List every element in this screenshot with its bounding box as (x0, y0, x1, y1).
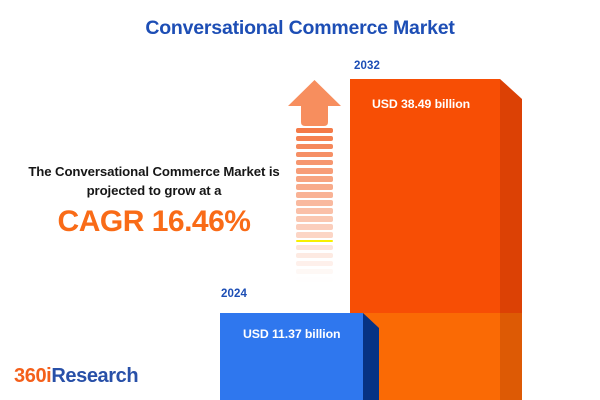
growth-arrow (287, 79, 342, 294)
arrow-stripe (296, 240, 333, 242)
arrow-stripe (296, 232, 333, 237)
bar-2032-side-lower-segment (500, 313, 522, 400)
cagr-description: The Conversational Commerce Market is pr… (18, 162, 290, 200)
arrow-stripe (296, 216, 333, 221)
arrow-up-icon (287, 79, 342, 127)
arrow-stripe (296, 269, 333, 274)
arrow-stripe (296, 245, 333, 250)
brand-logo: 360iResearch (14, 365, 138, 388)
infographic-canvas: Conversational Commerce Market 2032 USD … (0, 0, 600, 400)
cagr-annotation: The Conversational Commerce Market is pr… (18, 162, 290, 239)
arrow-stripe (296, 277, 333, 282)
bar-label-year-2024: 2024 (221, 288, 247, 300)
arrow-stripe-stack (296, 128, 333, 294)
arrow-stripe (296, 136, 333, 141)
arrow-stripe (296, 192, 333, 197)
bar-label-value-2032: USD 38.49 billion (372, 97, 470, 111)
page-title: Conversational Commerce Market (0, 17, 600, 40)
logo-text-360i: 360i (14, 365, 51, 387)
arrow-stripe (296, 184, 333, 189)
arrow-stripe (296, 160, 333, 165)
arrow-stripe (296, 224, 333, 229)
arrow-stripe (296, 208, 333, 213)
bar-2024-side-face (363, 313, 379, 400)
arrow-stripe (296, 253, 333, 258)
logo-text-research: Research (51, 365, 138, 387)
arrow-stripe (296, 144, 333, 149)
arrow-stripe (296, 152, 333, 157)
arrow-stripe (296, 261, 333, 266)
arrow-stripe (296, 168, 333, 173)
arrow-stripe (296, 128, 333, 133)
bar-label-value-2024: USD 11.37 billion (243, 327, 340, 341)
cagr-value: CAGR 16.46% (18, 205, 290, 239)
arrow-stripe (296, 176, 333, 181)
arrow-stripe (296, 285, 333, 290)
arrow-stripe (296, 200, 333, 205)
bar-label-year-2032: 2032 (354, 60, 380, 72)
